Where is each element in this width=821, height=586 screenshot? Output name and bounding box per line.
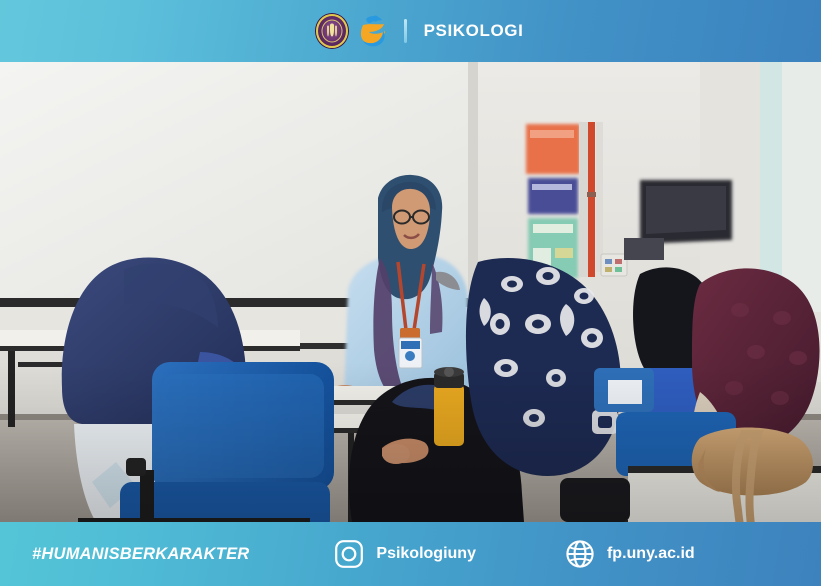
classroom-photo-scene [0,62,821,522]
blue-poster [528,178,578,214]
instagram-link[interactable]: Psikologiuny [334,539,476,569]
brand-lockup: PSIKOLOGI [316,13,524,49]
promo-card: PSIKOLOGI [0,0,821,586]
instagram-icon [334,539,364,569]
psikologi-figure-logo [357,13,391,49]
brand-divider [404,19,407,43]
uny-seal-logo [316,14,348,48]
classroom-photo [0,62,821,522]
wall-switch-panel [601,254,627,276]
instagram-handle: Psikologiuny [376,545,476,563]
footer-bar: #HUMANISBERKARAKTER Psikologiuny fp.uny.… [0,522,821,586]
page-title: PSIKOLOGI [424,21,524,41]
globe-icon [565,539,595,569]
header-bar: PSIKOLOGI [0,0,821,62]
hashtag-text: #HUMANISBERKARAKTER [32,545,249,564]
website-url: fp.uny.ac.id [607,545,695,563]
website-link[interactable]: fp.uny.ac.id [565,539,695,569]
red-pipe [588,122,595,277]
